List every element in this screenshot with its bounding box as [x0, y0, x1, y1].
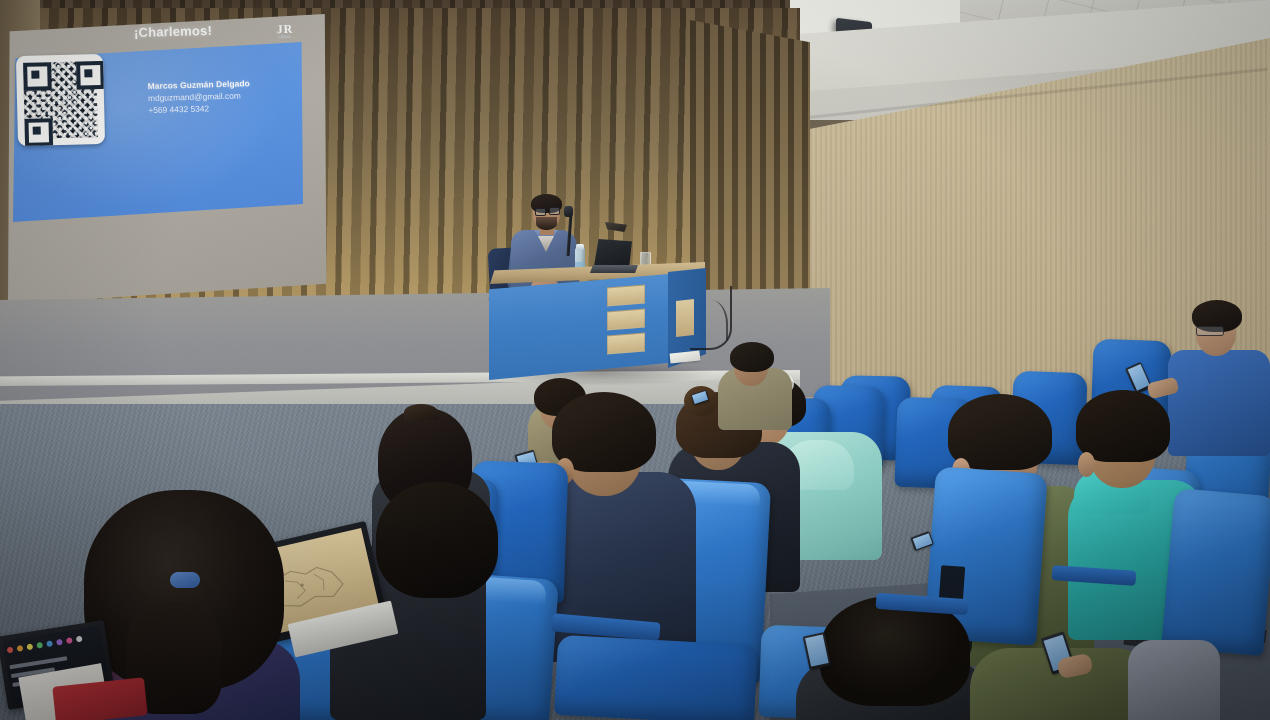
person-hair	[1076, 390, 1170, 462]
person-ear	[1078, 452, 1095, 477]
desk-panel	[607, 309, 645, 331]
presenter-laptop-screen	[594, 239, 632, 269]
presenter-beard	[536, 217, 557, 230]
auditorium-seat[interactable]	[1161, 488, 1270, 656]
microphone-icon	[564, 206, 573, 217]
person-hair	[730, 342, 774, 372]
person-hair	[376, 482, 498, 598]
auditorium-scene: ¡Charlemos! JR LEGAL Marcos Guzmán Delga…	[0, 0, 1270, 720]
auditorium-seat[interactable]	[554, 635, 758, 720]
water-bottle-cap	[576, 244, 584, 250]
hair-tie-icon	[170, 572, 200, 588]
glasses-lens-right	[549, 207, 560, 215]
person-hair-top	[404, 404, 438, 420]
glasses-icon	[1196, 326, 1224, 336]
presenter-laptop-base	[590, 265, 638, 273]
person-sleeve	[1128, 640, 1220, 720]
glasses-lens-left	[535, 208, 546, 216]
person-torso	[1168, 350, 1270, 456]
desk-panel	[607, 333, 645, 355]
desk-panel	[607, 285, 645, 307]
